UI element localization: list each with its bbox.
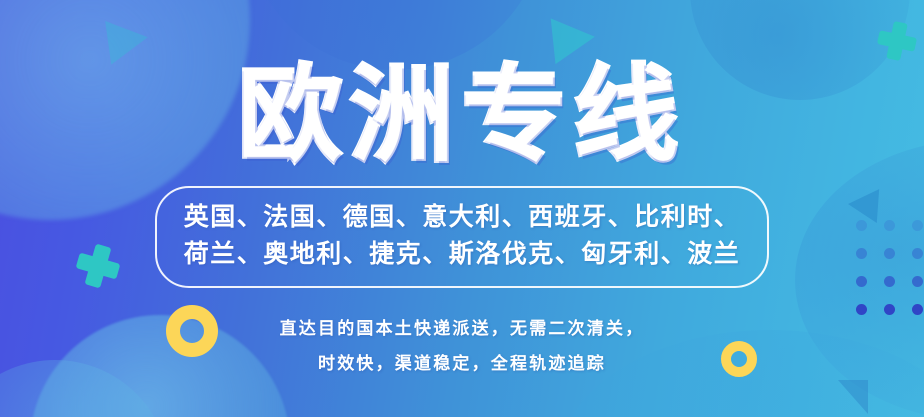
countries-line-2: 荷兰、奥地利、捷克、斯洛伐克、匈牙利、波兰 bbox=[175, 236, 749, 273]
countries-line-1: 英国、法国、德国、意大利、西班牙、比利时、 bbox=[175, 199, 749, 236]
banner-title: 欧洲专线 bbox=[238, 64, 686, 168]
tagline-line-2: 时效快，渠道稳定，全程轨迹追踪 bbox=[280, 347, 645, 382]
europe-line-promo-banner: 欧洲专线 英国、法国、德国、意大利、西班牙、比利时、 荷兰、奥地利、捷克、斯洛伐… bbox=[0, 0, 924, 417]
tagline-line-1: 直达目的国本土快递派送，无需二次清关， bbox=[280, 312, 645, 347]
countries-list-box: 英国、法国、德国、意大利、西班牙、比利时、 荷兰、奥地利、捷克、斯洛伐克、匈牙利… bbox=[155, 186, 769, 288]
banner-content: 欧洲专线 英国、法国、德国、意大利、西班牙、比利时、 荷兰、奥地利、捷克、斯洛伐… bbox=[0, 0, 924, 417]
banner-tagline: 直达目的国本土快递派送，无需二次清关， 时效快，渠道稳定，全程轨迹追踪 bbox=[280, 312, 645, 382]
